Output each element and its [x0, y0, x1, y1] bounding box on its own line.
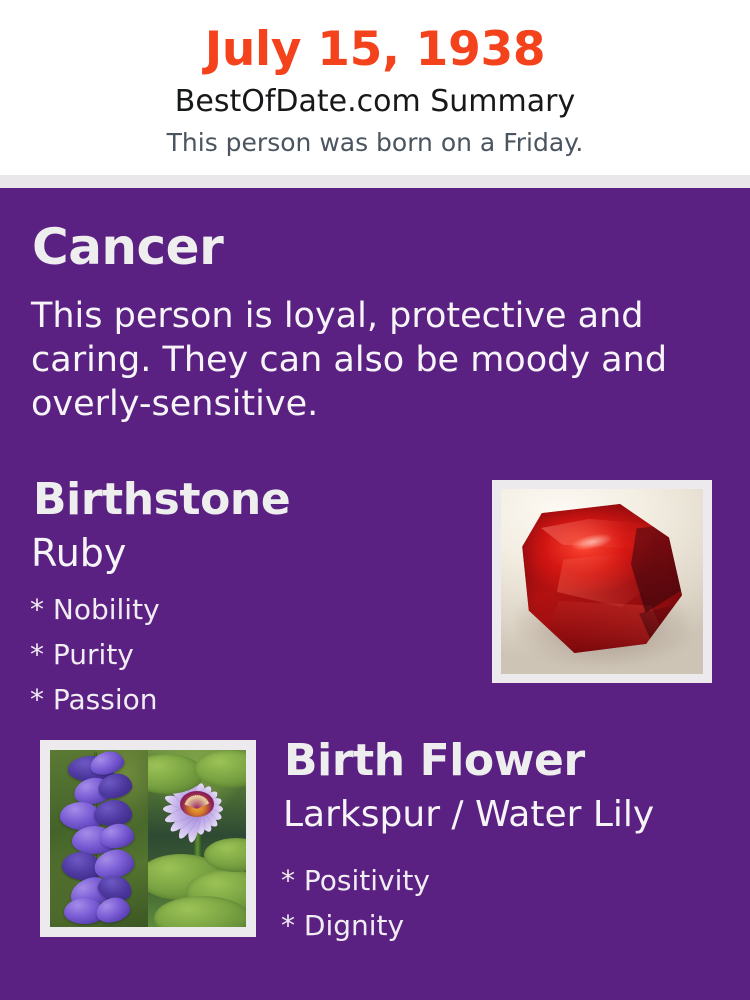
- larkspur-and-water-lily-photo: [50, 750, 246, 927]
- page-title-date: July 15, 1938: [0, 26, 750, 73]
- water-lily-photo-half: [148, 750, 246, 927]
- birth-flower-heading: Birth Flower: [284, 739, 585, 783]
- birth-flower-trait-list: * Positivity * Dignity: [281, 858, 701, 948]
- list-item: * Nobility: [30, 587, 410, 632]
- header: July 15, 1938 BestOfDate.com Summary Thi…: [0, 0, 750, 175]
- zodiac-description: This person is loyal, protective and car…: [31, 294, 671, 426]
- birth-flower-name: Larkspur / Water Lily: [283, 797, 654, 833]
- larkspur-flower: [98, 822, 135, 850]
- site-name: BestOfDate.com Summary: [0, 87, 750, 117]
- list-item: * Positivity: [281, 858, 701, 903]
- birthstone-image-frame: [492, 480, 712, 683]
- ruby-crystal-photo: [501, 489, 703, 674]
- list-item: * Purity: [30, 632, 410, 677]
- birthstone-trait-list: * Nobility * Purity * Passion: [30, 587, 410, 722]
- larkspur-photo-half: [50, 750, 148, 927]
- summary-card: July 15, 1938 BestOfDate.com Summary Thi…: [0, 0, 750, 1000]
- ruby-facet: [631, 523, 687, 613]
- birth-flower-image-frame: [40, 740, 256, 937]
- birthstone-heading: Birthstone: [33, 478, 290, 522]
- birthstone-name: Ruby: [31, 534, 126, 572]
- list-item: * Passion: [30, 677, 410, 722]
- list-item: * Dignity: [281, 903, 701, 948]
- header-divider: [0, 175, 750, 188]
- larkspur-flower: [94, 799, 133, 826]
- birth-day-note: This person was born on a Friday.: [0, 130, 750, 155]
- zodiac-sign-title: Cancer: [32, 222, 223, 272]
- lily-pad: [154, 896, 246, 927]
